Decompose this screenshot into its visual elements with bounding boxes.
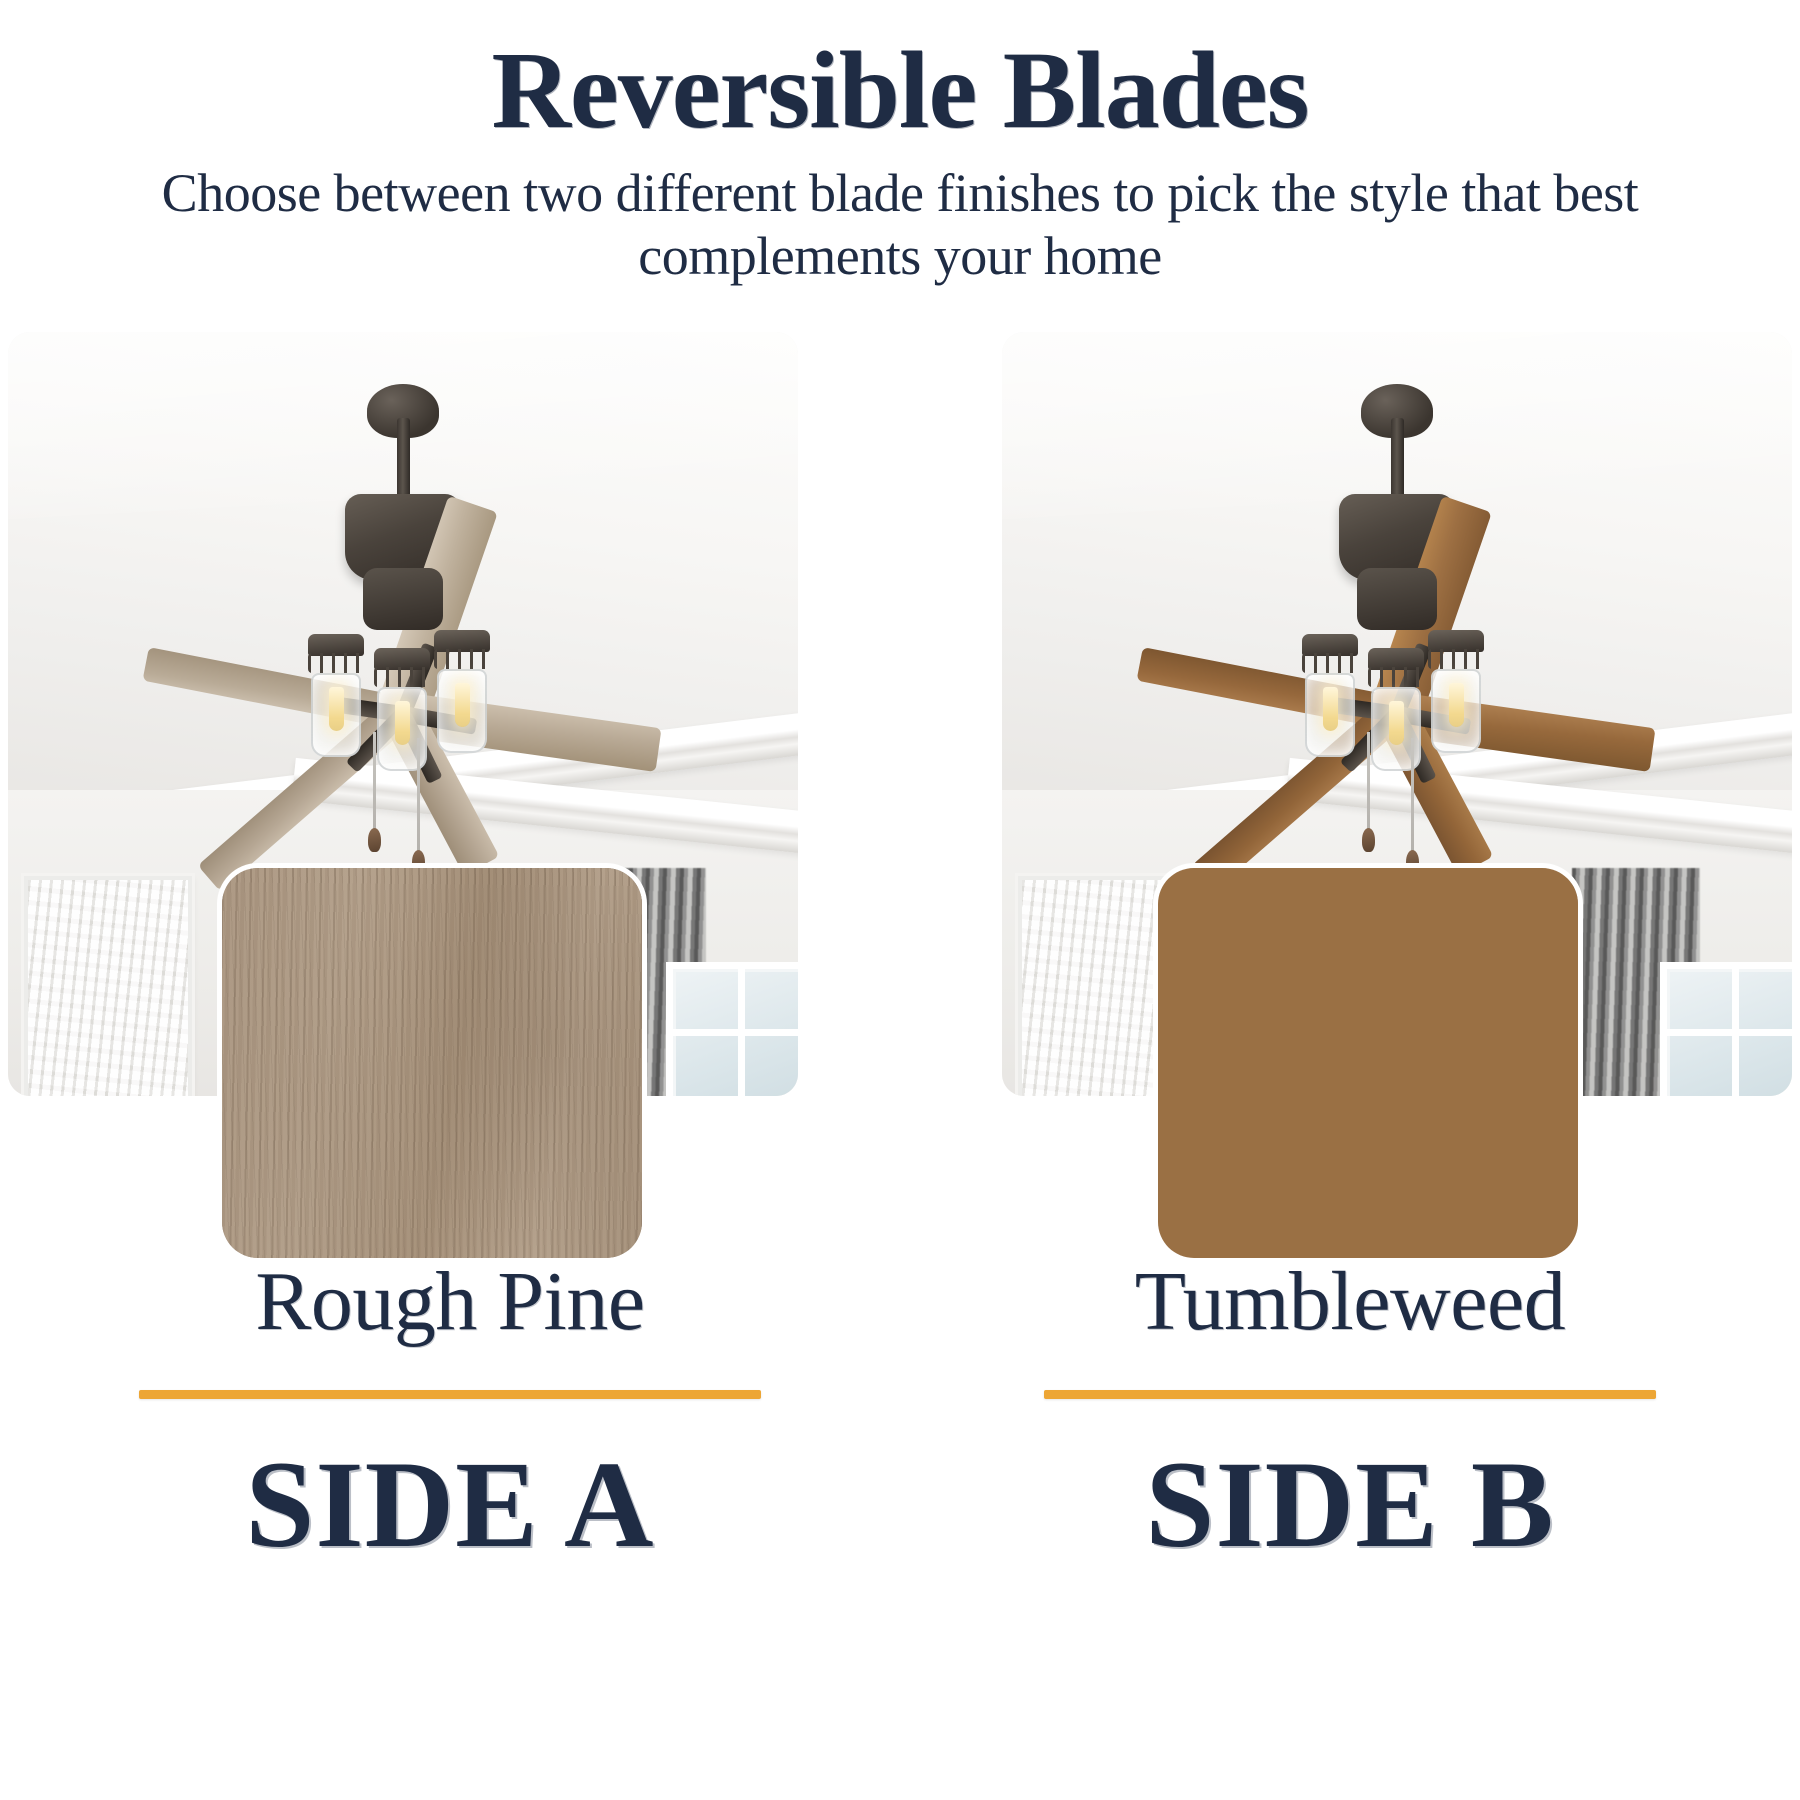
- wood-grain-texture: [222, 868, 642, 1258]
- light-cage: [1428, 649, 1484, 669]
- caption-side-b: Tumbleweed SIDE B: [900, 1260, 1800, 1567]
- light-fixture: [1368, 648, 1424, 771]
- pull-chain-bead: [1362, 828, 1375, 852]
- wood-grain-texture: [1158, 868, 1578, 1258]
- caption-side-a: Rough Pine SIDE A: [0, 1260, 900, 1567]
- fan-light-kit: [308, 618, 498, 768]
- finish-swatch-tumbleweed: [1158, 868, 1578, 1258]
- fan-light-kit: [1302, 618, 1492, 768]
- light-glass-shade: [1431, 669, 1481, 753]
- gold-divider: [1044, 1390, 1656, 1399]
- light-cage: [1368, 667, 1424, 687]
- light-glass-shade: [1305, 673, 1355, 757]
- fan-downrod: [397, 418, 410, 504]
- finish-swatch-rough-pine: [222, 868, 642, 1258]
- light-cage: [308, 653, 364, 673]
- gold-divider: [139, 1390, 761, 1399]
- light-fixture: [1428, 630, 1484, 753]
- light-glass-shade: [311, 673, 361, 757]
- light-fixture: [308, 634, 364, 757]
- finish-name-label: Tumbleweed: [900, 1260, 1800, 1344]
- light-fixture: [374, 648, 430, 771]
- pull-chain: [1367, 732, 1370, 836]
- side-label: SIDE B: [900, 1443, 1800, 1567]
- pull-chain: [373, 732, 376, 836]
- light-cage: [1302, 653, 1358, 673]
- header: Reversible Blades Choose between two dif…: [0, 0, 1800, 287]
- fan-downrod: [1391, 418, 1404, 504]
- captions: Rough Pine SIDE A Tumbleweed SIDE B: [0, 1260, 1800, 1567]
- finish-name-label: Rough Pine: [0, 1260, 900, 1344]
- light-glass-shade: [437, 669, 487, 753]
- light-cage: [434, 649, 490, 669]
- light-fixture: [434, 630, 490, 753]
- side-label: SIDE A: [0, 1443, 900, 1567]
- pull-chain: [417, 738, 420, 858]
- page-subtitle: Choose between two different blade finis…: [0, 162, 1800, 287]
- light-fixture: [1302, 634, 1358, 757]
- pull-chain-bead: [368, 828, 381, 852]
- pull-chain: [1411, 738, 1414, 858]
- page-title: Reversible Blades: [0, 34, 1800, 146]
- light-cage: [374, 667, 430, 687]
